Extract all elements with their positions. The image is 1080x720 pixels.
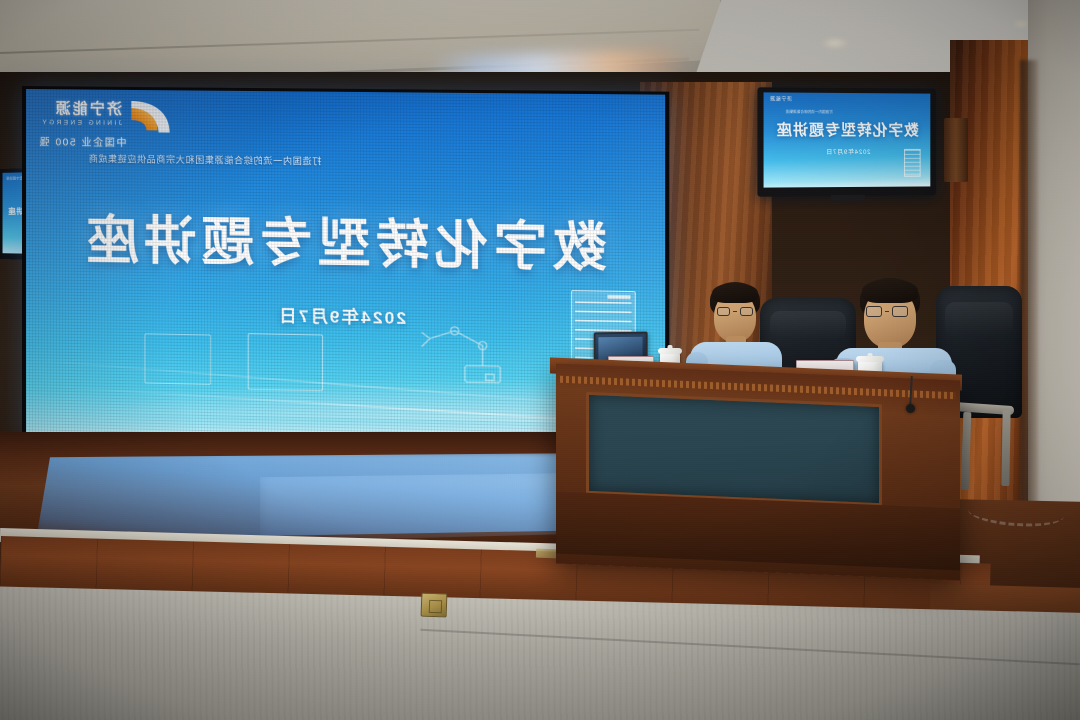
glasses-lens-left <box>717 307 730 316</box>
wall-tv-logo-cn: 济宁能源 <box>770 96 792 103</box>
glasses-bridge <box>733 311 737 312</box>
wall-mounted-tv: 济宁能源 打造国内一流的综合能源集团 数字化转型专题讲座 2024年9月7日 <box>757 87 936 197</box>
jining-energy-logo: 济宁能源 JINING ENERGY <box>40 99 171 134</box>
ceiling-spot-light <box>822 38 848 48</box>
speaker-right-hair-top <box>862 279 918 303</box>
speaker-left-glasses <box>717 307 753 316</box>
wall-tv-title: 数字化转型专题讲座 <box>764 119 931 140</box>
curtain-right <box>1020 60 1038 530</box>
speaker-right-glasses <box>866 306 908 317</box>
speaker-left-hair-top <box>712 283 758 303</box>
wall-tv-screen: 济宁能源 打造国内一流的综合能源集团 数字化转型专题讲座 2024年9月7日 <box>764 92 931 187</box>
wall-tv-stand <box>831 195 865 201</box>
wall-tv-subtitle: 打造国内一流的综合能源集团 <box>786 110 833 115</box>
company-name-en: JINING ENERGY <box>40 118 122 129</box>
glasses-lens-right <box>740 307 753 316</box>
slide-subtitle: 打造国内一流的综合能源集团和大宗商品供应链集成商 <box>88 152 321 168</box>
company-name-cn: 济宁能源 <box>40 101 122 117</box>
slide-main-title: 数字化转型专题讲座 <box>26 197 665 282</box>
tech-panel-outline-icon-secondary <box>144 333 211 385</box>
wall-tv-building-icon <box>904 149 921 177</box>
chair-leg-right-rear <box>1001 410 1010 486</box>
jining-energy-logo-mark-icon <box>129 100 171 135</box>
conference-hall-photo: 数字化转型专题讲座 数字化转型专题讲座 2024年9月7日 数字化转型专题讲座 … <box>0 0 1080 720</box>
tea-cup-right-knob <box>868 353 873 357</box>
brass-floor-outlet <box>421 593 448 618</box>
award-badge-500: 中国企业 500 强 <box>38 133 127 149</box>
desk-microphone <box>906 404 915 413</box>
tea-cup-left-knob <box>668 345 673 349</box>
glasses-lens-right <box>892 306 908 317</box>
glasses-lens-left <box>866 306 882 317</box>
tech-panel-outline-icon <box>248 333 323 391</box>
glasses-bridge <box>885 311 889 312</box>
floor-plate <box>536 549 558 559</box>
wall-speaker <box>944 118 968 182</box>
head-table-inset-panel <box>586 392 882 506</box>
wall-tv-mirrored-content: 济宁能源 打造国内一流的综合能源集团 数字化转型专题讲座 2024年9月7日 <box>764 92 931 187</box>
logo-text-block: 济宁能源 JINING ENERGY <box>40 99 122 129</box>
